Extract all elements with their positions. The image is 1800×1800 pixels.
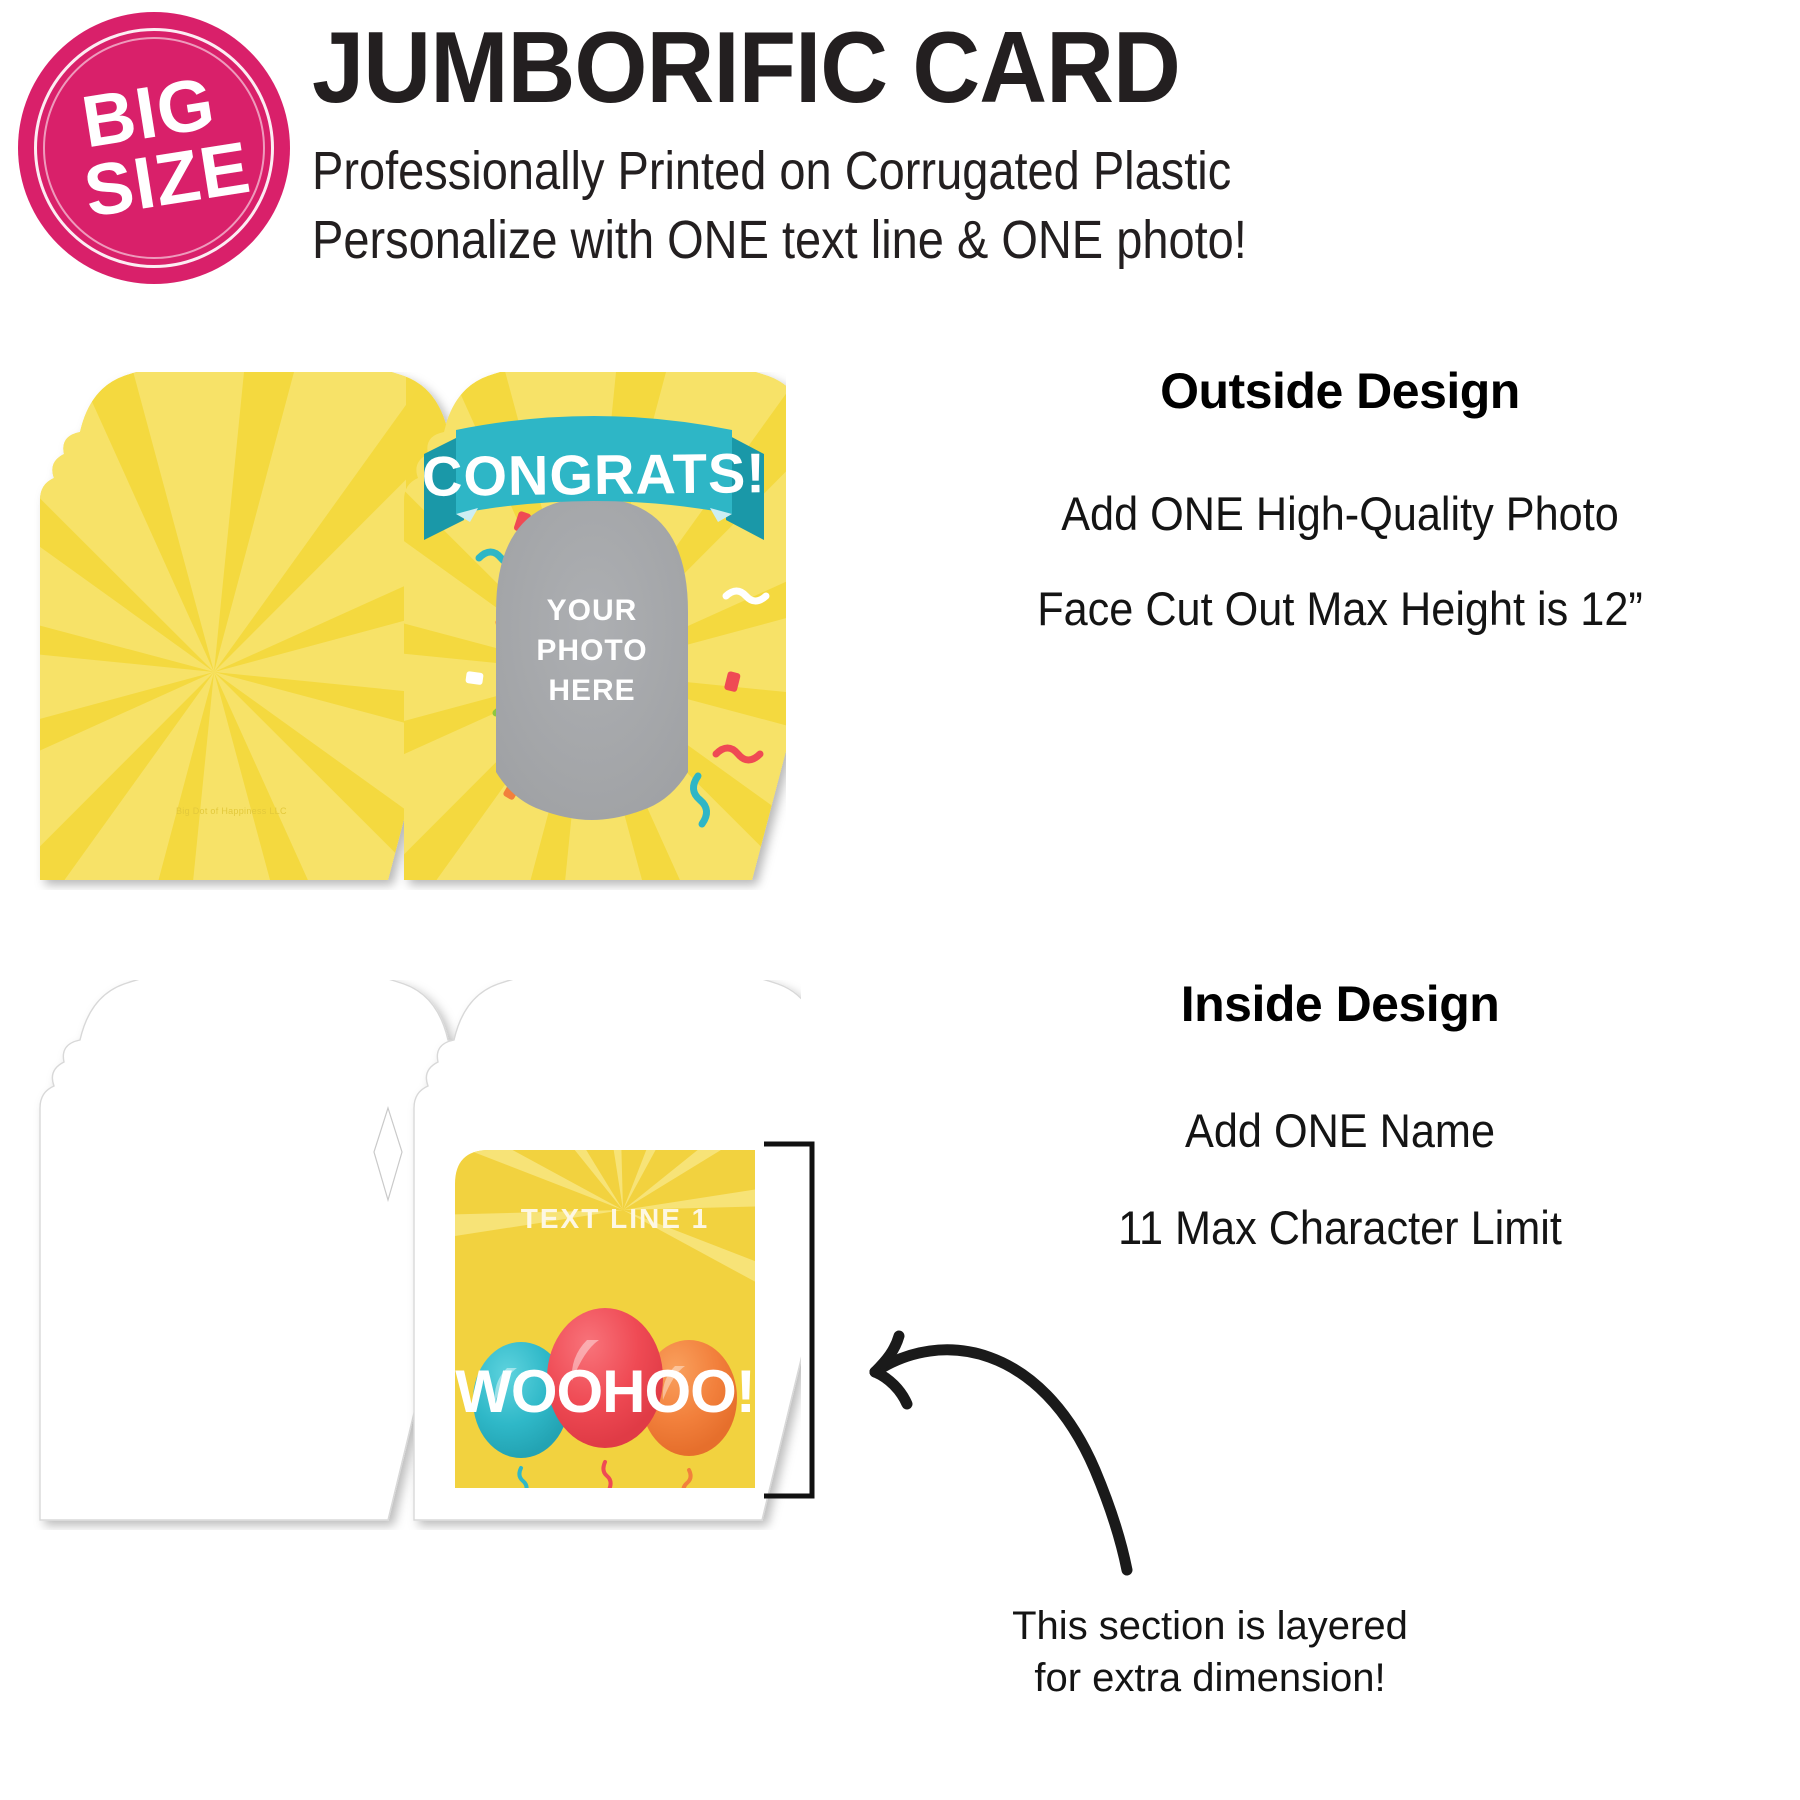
measurement-bracket <box>760 1140 850 1500</box>
subtitle-line-1: Professionally Printed on Corrugated Pla… <box>312 137 1582 206</box>
copyright-microtext: Big Dot of Happiness LLC <box>176 806 287 816</box>
photo-placeholder-line-2: PHOTO <box>536 634 647 667</box>
congrats-banner-text: CONGRATS! <box>422 441 767 508</box>
outside-design-text-column: Outside Design Add ONE High-Quality Phot… <box>880 362 1800 636</box>
subtitle-line-2: Personalize with ONE text line & ONE pho… <box>312 206 1582 275</box>
layered-section-arrow <box>845 1320 1185 1620</box>
product-listing-page: BIG SIZE JUMBORIFIC CARD Professionally … <box>0 0 1800 1800</box>
outside-design-heading: Outside Design <box>880 362 1800 420</box>
outside-design-line-2: Face Cut Out Max Height is 12” <box>917 581 1763 636</box>
inside-design-text-column: Inside Design Add ONE Name 11 Max Charac… <box>880 975 1800 1255</box>
page-title: JUMBORIFIC CARD <box>312 18 1670 119</box>
title-block: JUMBORIFIC CARD Professionally Printed o… <box>312 18 1772 275</box>
photo-placeholder-line-3: HERE <box>548 674 635 707</box>
outside-card-illustration: CONGRATS! YOUR PHOTO HERE <box>26 372 786 890</box>
inside-design-line-2: 11 Max Character Limit <box>917 1200 1763 1255</box>
outside-design-line-1: Add ONE High-Quality Photo <box>917 486 1763 541</box>
header: BIG SIZE JUMBORIFIC CARD Professionally … <box>0 0 1800 330</box>
photo-placeholder-line-1: YOUR <box>547 594 638 627</box>
woohoo-text: WOOHOO! <box>455 1358 755 1425</box>
big-size-badge: BIG SIZE <box>18 12 290 284</box>
inside-design-line-1: Add ONE Name <box>917 1103 1763 1158</box>
layered-note-line-2: for extra dimension! <box>930 1652 1490 1704</box>
woohoo-layer-panel: TEXT LINE 1 WOOHOO! <box>455 1150 755 1488</box>
layered-section-note: This section is layered for extra dimens… <box>930 1600 1490 1704</box>
layered-note-line-1: This section is layered <box>930 1600 1490 1652</box>
badge-text: BIG SIZE <box>53 66 254 230</box>
text-line-1-label: TEXT LINE 1 <box>521 1203 709 1234</box>
inside-design-heading: Inside Design <box>880 975 1800 1033</box>
